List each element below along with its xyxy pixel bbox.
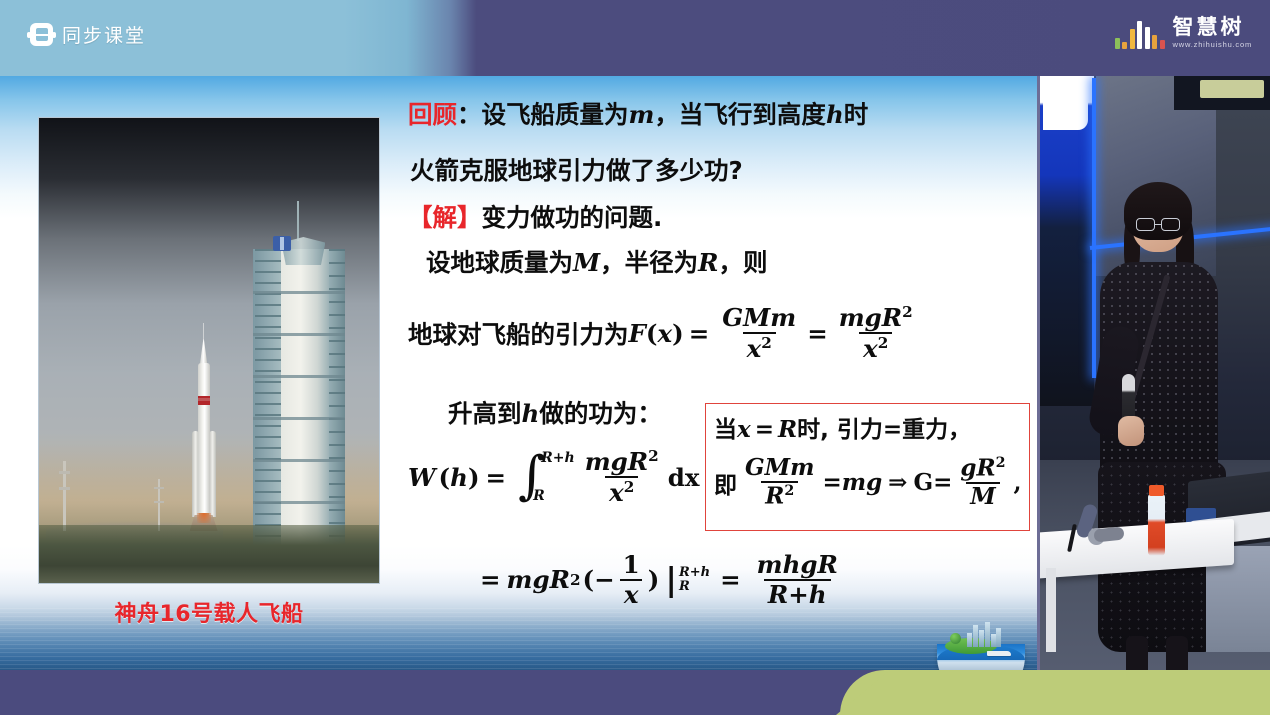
note-prefix: 即: [714, 466, 737, 500]
presentation-screen: 同步课堂 智慧树 www.zhihuishu.com: [0, 0, 1270, 715]
glasses-icon: [1136, 218, 1180, 232]
fraction-1-over-x: 1 x: [619, 552, 644, 608]
differential-dx: dx: [668, 463, 700, 492]
denominator: x: [863, 334, 878, 363]
paren-open: (: [646, 319, 658, 348]
denominator: x: [609, 478, 624, 507]
numerator: mhgR: [753, 552, 842, 579]
fraction-GMm-over-R2: GMm R2: [741, 456, 818, 509]
eval-bar-icon: |: [665, 567, 677, 593]
review-text-c: 时: [844, 100, 869, 129]
numerator: 1: [619, 552, 644, 579]
close-paren: ): [648, 565, 660, 594]
fraction-mhgR-over-R-plus-h: mhgR R+h: [753, 552, 842, 608]
paren-close: ): [672, 319, 684, 348]
launch-gantry-tower: [253, 249, 345, 549]
const-G: G: [913, 469, 933, 496]
line-work-result: = mgR2 (− 1 x ) | R+h R = mhgR: [480, 552, 846, 608]
denominator: x: [620, 579, 643, 608]
note-a: 当: [714, 417, 737, 443]
fraction-gR2-over-M: gR2 M: [956, 456, 1009, 509]
solution-text: 变力做功的问题.: [482, 203, 663, 232]
denominator: R: [765, 483, 784, 510]
eval-upper-limit: R+h: [679, 566, 710, 580]
var-h: h: [450, 463, 468, 492]
var-R: R: [778, 416, 797, 443]
equals-2: =: [933, 469, 952, 496]
equals: =: [755, 416, 774, 443]
review-text-b: ，当飞行到高度: [654, 100, 826, 129]
note-b: 时, 引力=重力，: [797, 417, 971, 443]
paren-close: ): [468, 463, 480, 492]
line-question: 火箭克服地球引力做了多少功?: [410, 152, 743, 187]
line-review: 回顾：设飞船质量为m，当飞行到高度h时: [408, 96, 868, 131]
line-work-label: 升高到h做的功为：: [448, 395, 662, 430]
review-text-a: ：设飞船质量为: [457, 100, 629, 129]
numerator-exponent: 2: [902, 303, 913, 321]
brand-url: www.zhihuishu.com: [1173, 40, 1252, 49]
fraction-mgR2-over-x2: mgR2 x2: [835, 304, 917, 362]
slide-canvas: 神舟16号载人飞船 回顾：设飞船质量为m，当飞行到高度h时 火箭克服地球引力做了…: [0, 76, 1037, 670]
denominator-exponent: 2: [784, 483, 794, 499]
numerator: GMm: [741, 456, 818, 481]
var-M: M: [573, 248, 600, 277]
given-b: ，半径为: [600, 248, 698, 277]
equals: =: [486, 463, 507, 492]
equals-2: =: [807, 319, 828, 348]
denominator: M: [966, 482, 999, 509]
numerator: gR: [960, 455, 995, 482]
equals-1: =: [822, 469, 841, 496]
work-a: 升高到: [448, 399, 522, 428]
denominator: x: [747, 334, 762, 363]
bottom-accent-shape: [840, 670, 1270, 715]
trailing-comma: ,: [1014, 469, 1022, 496]
var-h: h: [826, 100, 844, 129]
numerator: GMm: [718, 305, 800, 332]
app-title: 同步课堂: [62, 21, 146, 48]
integral-lower-limit: R: [533, 488, 567, 504]
var-x: x: [737, 416, 751, 443]
brand-name: 智慧树: [1173, 16, 1245, 38]
zhihuishu-brand-logo[interactable]: 智慧树 www.zhihuishu.com: [1115, 16, 1252, 49]
integral-upper-limit: R+h: [541, 450, 575, 466]
solution-label: 【解】: [408, 203, 482, 232]
denominator-exponent: 2: [624, 478, 635, 496]
note-line-1: 当x=R时, 引力=重力，: [714, 410, 1021, 444]
fraction-mgR2-over-x2: mgR2 x2: [581, 448, 663, 506]
term-mgR: mgR: [507, 565, 570, 594]
integral-sign-with-limits: ∫ R+h R: [518, 454, 575, 500]
brand-bars-icon: [1115, 19, 1165, 49]
rocket: [189, 331, 219, 531]
given-c: ，则: [719, 248, 768, 277]
water-bottle: [1148, 494, 1165, 556]
func-F: F: [629, 319, 646, 348]
var-x: x: [658, 319, 673, 348]
line-solution: 【解】变力做功的问题.: [408, 199, 662, 234]
note-line-2: 即 GMm R2 = mg ⇒ G = gR2 M ,: [714, 456, 1022, 509]
numerator: mgR: [585, 447, 648, 476]
open-neg: (−: [583, 565, 615, 594]
bottom-bar: [0, 670, 1270, 715]
numerator: mgR: [839, 303, 902, 332]
line-work-integral: W(h)= ∫ R+h R mgR2 x2 dx: [408, 448, 699, 506]
func-W: W: [408, 463, 436, 492]
paren-open: (: [439, 463, 451, 492]
denominator-exponent: 2: [878, 334, 889, 352]
line-force-formula: 地球对飞船的引力为F(x)= GMm x2 = mgR2 x2: [408, 304, 921, 362]
instructor-camera-feed[interactable]: [1037, 76, 1270, 670]
app-header: 同步课堂 智慧树 www.zhihuishu.com: [0, 0, 1270, 76]
denominator-exponent: 2: [761, 334, 772, 352]
given-a: 设地球质量为: [426, 248, 573, 277]
implies-arrow-icon: ⇒: [888, 469, 907, 496]
review-label: 回顾: [408, 100, 457, 129]
force-prefix: 地球对飞船的引力为: [408, 316, 629, 351]
highlight-note-box: 当x=R时, 引力=重力， 即 GMm R2 = mg ⇒ G = gR2 M: [705, 403, 1030, 531]
shenzhou-rocket-photo: [38, 117, 380, 584]
term-mg: mg: [842, 469, 882, 496]
gantry-mast: [271, 203, 331, 265]
photo-caption: 神舟16号载人飞船: [38, 596, 380, 628]
work-b: 做的功为：: [539, 399, 662, 428]
fraction-GMm-over-x2: GMm x2: [718, 305, 800, 362]
app-brand-left[interactable]: 同步课堂: [30, 21, 146, 48]
earth-city-globe-icon: [933, 624, 1029, 670]
evaluation-bar: | R+h R: [665, 566, 710, 593]
equals-1: =: [689, 319, 710, 348]
equals-2: =: [720, 565, 741, 594]
numerator-exponent: 2: [996, 455, 1006, 471]
equals-1: =: [480, 565, 501, 594]
class-book-icon: [30, 23, 53, 46]
var-R: R: [698, 248, 718, 277]
denominator: R+h: [764, 579, 831, 608]
var-h: h: [522, 399, 540, 428]
term-mgR-exponent: 2: [570, 571, 581, 589]
line-given: 设地球质量为M，半径为R，则: [426, 244, 768, 279]
var-m: m: [629, 100, 655, 129]
eval-lower-limit: R: [679, 580, 710, 594]
numerator-exponent: 2: [648, 447, 659, 465]
